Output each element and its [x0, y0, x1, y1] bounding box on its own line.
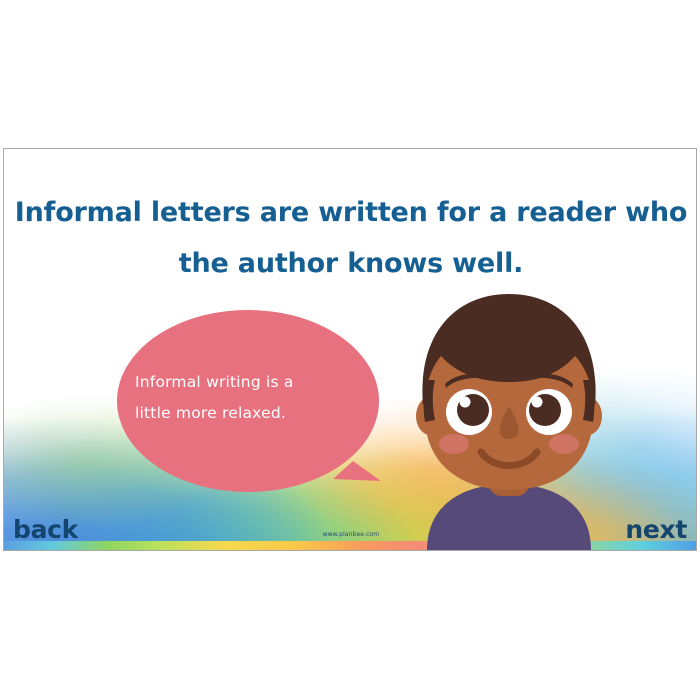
eye-highlight-right [532, 397, 543, 408]
page-root: Informal letters are written for a reade… [0, 0, 700, 700]
cheek-right [549, 434, 579, 454]
lesson-slide: Informal letters are written for a reade… [3, 148, 697, 551]
heading-line-2: the author knows well. [4, 238, 697, 289]
watermark: www.planbee.com [4, 531, 697, 538]
next-button[interactable]: next [625, 517, 687, 542]
heading-line-1: Informal letters are written for a reade… [4, 187, 697, 238]
cheek-left [439, 434, 469, 454]
speech-bubble-text: Informal writing is a little more relaxe… [135, 367, 365, 429]
speech-bubble: Informal writing is a little more relaxe… [117, 309, 381, 499]
bubble-line-1: Informal writing is a [135, 367, 365, 398]
back-button[interactable]: back [13, 517, 78, 542]
bubble-line-2: little more relaxed. [135, 398, 365, 429]
eye-highlight-left [460, 397, 471, 408]
character-illustration [399, 288, 619, 550]
page-title: Informal letters are written for a reade… [4, 187, 697, 289]
